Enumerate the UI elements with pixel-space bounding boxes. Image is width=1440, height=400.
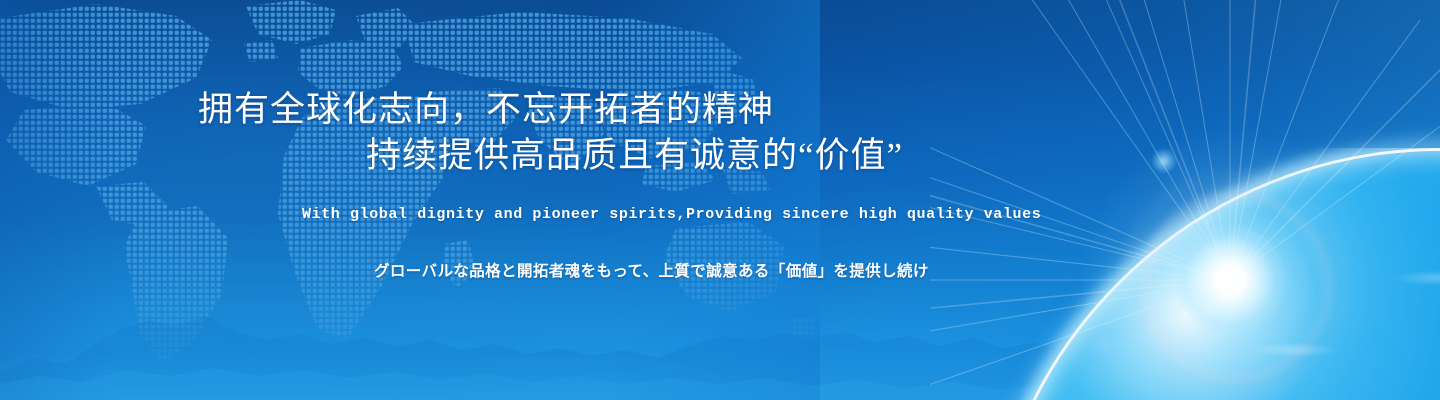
hero-banner: 拥有全球化志向，不忘开拓者的精神 持续提供高品质且有诚意的“价值” With g…	[0, 0, 1440, 400]
banner-copy: 拥有全球化志向，不忘开拓者的精神 持续提供高品质且有诚意的“价值” With g…	[0, 0, 1100, 400]
subtitle-japanese: グローバルな品格と開拓者魂をもって、上質で誠意ある「価値」を提供し続け	[374, 259, 929, 281]
headline-line-1: 拥有全球化志向，不忘开拓者的精神	[198, 92, 774, 127]
sun-core	[1175, 225, 1285, 335]
headline-line-2: 持续提供高品质且有诚意的“价值”	[366, 138, 903, 173]
subtitle-english: With global dignity and pioneer spirits,…	[302, 206, 1041, 223]
